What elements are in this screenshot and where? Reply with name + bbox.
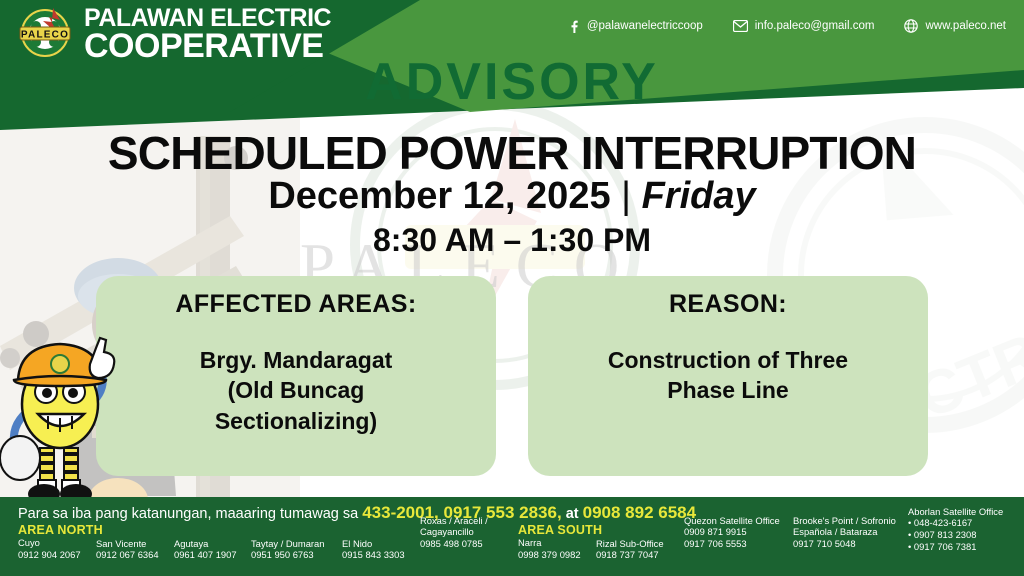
website-url: www.paleco.net xyxy=(925,20,1006,32)
contact-roxas-phone: 0985 498 0785 xyxy=(420,538,488,549)
area-south-column: AREA SOUTH Narra 0998 379 0982 xyxy=(518,523,602,560)
reason-line-2: Phase Line xyxy=(546,375,910,405)
contact-taytay-dumaran-phone: 0951 950 6763 xyxy=(251,549,324,560)
contact-narra: Narra 0998 379 0982 xyxy=(518,537,602,560)
header-contact-list: @palawanelectriccoop info.paleco@gmail.c… xyxy=(567,19,1006,33)
affected-areas-title: AFFECTED AREAS: xyxy=(114,290,478,319)
contact-el-nido: El Nido 0915 843 3303 xyxy=(342,538,405,561)
reason-title: REASON: xyxy=(546,290,910,319)
contact-cuyo: Cuyo 0912 904 2067 xyxy=(18,537,103,560)
page-title: SCHEDULED POWER INTERRUPTION xyxy=(0,126,1024,180)
contact-agutaya-column: Agutaya 0961 407 1907 xyxy=(174,523,237,561)
website-contact[interactable]: www.paleco.net xyxy=(904,19,1006,33)
paleco-logo: PALECO xyxy=(12,8,78,58)
reason-body: Construction of Three Phase Line xyxy=(546,345,910,406)
affected-areas-line-1: Brgy. Mandaragat xyxy=(114,345,478,375)
contact-brookes-point-sofronio: Brooke's Point / Sofronio Española / Bat… xyxy=(793,515,896,549)
info-cards: AFFECTED AREAS: Brgy. Mandaragat (Old Bu… xyxy=(96,276,928,476)
contact-narra-phone: 0998 379 0982 xyxy=(518,549,602,560)
advisory-time: 8:30 AM – 1:30 PM xyxy=(0,222,1024,259)
contact-rizal-sub-office: Rizal Sub-Office 0918 737 7047 xyxy=(596,538,664,561)
contact-taytay-dumaran: Taytay / Dumaran 0951 950 6763 xyxy=(251,538,324,561)
footer-band: Para sa iba pang katanungan, maaaring tu… xyxy=(0,497,1024,576)
contact-brookes-phone: 0917 710 5048 xyxy=(793,538,896,549)
contact-el-nido-name: El Nido xyxy=(342,538,405,549)
advisory-day: Friday xyxy=(642,175,756,217)
contact-cuyo-phone: 0912 904 2067 xyxy=(18,549,103,560)
contact-san-vicente-column: San Vicente 0912 067 6364 xyxy=(96,523,159,561)
contact-aborlan-phone-1: • 048-423-6167 xyxy=(908,517,1003,529)
facebook-icon xyxy=(567,20,580,33)
contact-aborlan-phone-3: • 0917 706 7381 xyxy=(908,541,1003,553)
date-separator: | xyxy=(621,175,631,217)
hotline-last-number: 0908 892 6584 xyxy=(583,503,696,522)
lightbulb-mascot xyxy=(0,330,124,510)
contact-taytay-dumaran-column: Taytay / Dumaran 0951 950 6763 xyxy=(251,523,324,561)
contact-quezon-phone-2: 0917 706 5553 xyxy=(684,538,780,549)
contact-narra-name: Narra xyxy=(518,537,602,548)
hotline-prefix: Para sa iba pang katanungan, maaaring tu… xyxy=(18,506,362,522)
contact-agutaya-phone: 0961 407 1907 xyxy=(174,549,237,560)
contact-el-nido-phone: 0915 843 3303 xyxy=(342,549,405,560)
email-address: info.paleco@gmail.com xyxy=(755,20,875,32)
facebook-contact[interactable]: @palawanelectriccoop xyxy=(567,20,703,33)
advisory-title: ADVISORY xyxy=(0,52,1024,112)
reason-card: REASON: Construction of Three Phase Line xyxy=(528,276,928,476)
contact-brookes-line-2: Española / Bataraza xyxy=(793,526,896,537)
contact-brookes-line-1: Brooke's Point / Sofronio xyxy=(793,515,896,526)
contact-brookes-point-column: Brooke's Point / Sofronio Española / Bat… xyxy=(793,515,896,549)
area-north-column: AREA NORTH Cuyo 0912 904 2067 xyxy=(18,523,103,560)
affected-areas-card: AFFECTED AREAS: Brgy. Mandaragat (Old Bu… xyxy=(96,276,496,476)
affected-areas-body: Brgy. Mandaragat (Old Buncag Sectionaliz… xyxy=(114,345,478,436)
date-line: December 12, 2025 | Friday xyxy=(0,175,1024,218)
contact-rizal-phone: 0918 737 7047 xyxy=(596,549,664,560)
contact-roxas-line-2: Cagayancillo xyxy=(420,526,488,537)
globe-icon xyxy=(904,19,918,33)
contact-roxas-araceli-column: Roxas / Araceli / Cagayancillo 0985 498 … xyxy=(420,515,488,549)
affected-areas-line-2: (Old Buncag xyxy=(114,375,478,405)
contact-san-vicente-phone: 0912 067 6364 xyxy=(96,549,159,560)
contact-quezon-column: Quezon Satellite Office 0909 871 9915 09… xyxy=(684,515,780,549)
contact-san-vicente-name: San Vicente xyxy=(96,538,159,549)
contact-roxas-line-1: Roxas / Araceli / xyxy=(420,515,488,526)
contact-aborlan-column: Aborlan Satellite Office • 048-423-6167 … xyxy=(908,506,1003,553)
contact-taytay-dumaran-name: Taytay / Dumaran xyxy=(251,538,324,549)
facebook-handle: @palawanelectriccoop xyxy=(587,20,703,32)
contact-aborlan-satellite-office: Aborlan Satellite Office xyxy=(908,506,1003,517)
contact-quezon-name: Quezon Satellite Office xyxy=(684,515,780,526)
hotline-text: Para sa iba pang katanungan, maaaring tu… xyxy=(18,503,696,523)
affected-areas-line-3: Sectionalizing) xyxy=(114,406,478,436)
advisory-date: December 12, 2025 xyxy=(268,175,610,217)
contact-roxas-araceli-cagayancillo: Roxas / Araceli / Cagayancillo 0985 498 … xyxy=(420,515,488,549)
area-north-label: AREA NORTH xyxy=(18,523,103,537)
contact-el-nido-column: El Nido 0915 843 3303 xyxy=(342,523,405,561)
contact-agutaya-name: Agutaya xyxy=(174,538,237,549)
envelope-icon xyxy=(733,20,748,32)
contact-quezon-satellite-office: Quezon Satellite Office 0909 871 9915 09… xyxy=(684,515,780,549)
contact-aborlan-numbers: • 048-423-6167 • 0907 813 2308 • 0917 70… xyxy=(908,517,1003,552)
contact-aborlan-name: Aborlan Satellite Office xyxy=(908,506,1003,517)
hotline-conjunction: at xyxy=(562,506,583,522)
contact-san-vicente: San Vicente 0912 067 6364 xyxy=(96,538,159,561)
svg-text:PALECO: PALECO xyxy=(21,30,69,41)
contact-cuyo-name: Cuyo xyxy=(18,537,103,548)
contact-rizal-column: Rizal Sub-Office 0918 737 7047 xyxy=(596,523,664,561)
email-contact[interactable]: info.paleco@gmail.com xyxy=(733,20,875,32)
contact-aborlan-phone-2: • 0907 813 2308 xyxy=(908,529,1003,541)
area-south-label: AREA SOUTH xyxy=(518,523,602,537)
contact-quezon-phone-1: 0909 871 9915 xyxy=(684,526,780,537)
advisory-poster: PALECO 74 ECTRI xyxy=(0,0,1024,576)
service-area-contacts: AREA NORTH Cuyo 0912 904 2067 San Vicent… xyxy=(0,523,1024,576)
contact-rizal-name: Rizal Sub-Office xyxy=(596,538,664,549)
contact-agutaya: Agutaya 0961 407 1907 xyxy=(174,538,237,561)
reason-line-1: Construction of Three xyxy=(546,345,910,375)
